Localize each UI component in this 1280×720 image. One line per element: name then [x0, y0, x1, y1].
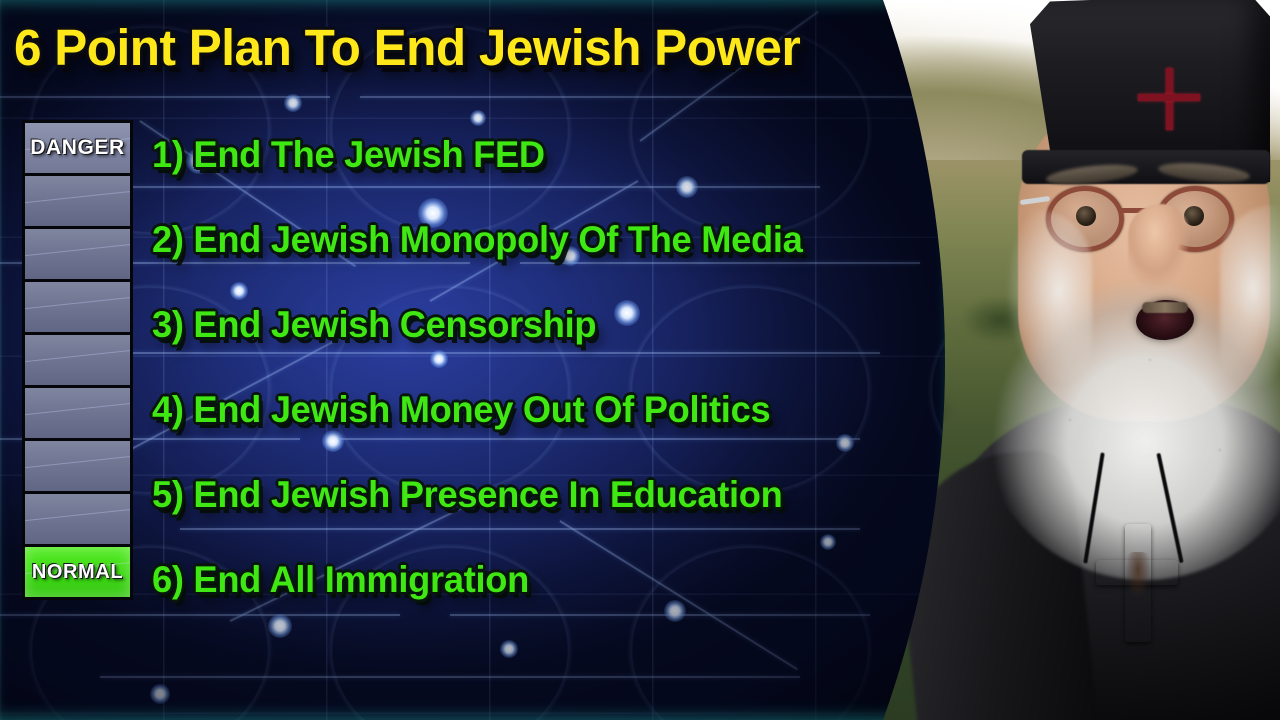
- gauge-cell-blank: [25, 176, 130, 229]
- gauge-cell-blank: [25, 335, 130, 388]
- threat-level-gauge: DANGER NORMAL: [22, 120, 133, 600]
- gauge-cell-blank: [25, 229, 130, 282]
- eye-left: [1076, 206, 1096, 226]
- gauge-danger-label: DANGER: [30, 136, 125, 160]
- page-title: 6 Point Plan To End Jewish Power: [14, 18, 868, 77]
- cross-carving: [1126, 552, 1150, 610]
- list-item: 2) End Jewish Monopoly Of The Media: [152, 197, 936, 282]
- hair-left: [982, 210, 1092, 410]
- list-item: 4) End Jewish Money Out Of Politics: [152, 367, 936, 452]
- teeth: [1142, 302, 1188, 313]
- gauge-cell-blank: [25, 494, 130, 547]
- list-item: 5) End Jewish Presence In Education: [152, 452, 936, 537]
- gauge-cell-normal: NORMAL: [25, 547, 130, 597]
- pectoral-cross-icon: [1096, 524, 1178, 642]
- list-item: 3) End Jewish Censorship: [152, 282, 936, 367]
- red-cross-icon: [1138, 68, 1200, 130]
- hair-right: [1220, 205, 1280, 415]
- gauge-cell-danger: DANGER: [25, 123, 130, 176]
- gauge-cell-blank: [25, 441, 130, 494]
- gauge-cell-blank: [25, 388, 130, 441]
- video-thumbnail: 6 Point Plan To End Jewish Power DANGER …: [0, 0, 1280, 720]
- list-item: 1) End The Jewish FED: [152, 112, 936, 197]
- plan-list: 1) End The Jewish FED 2) End Jewish Mono…: [152, 112, 952, 622]
- list-item: 6) End All Immigration: [152, 537, 936, 622]
- gauge-normal-label: NORMAL: [32, 561, 123, 584]
- gauge-cell-blank: [25, 282, 130, 335]
